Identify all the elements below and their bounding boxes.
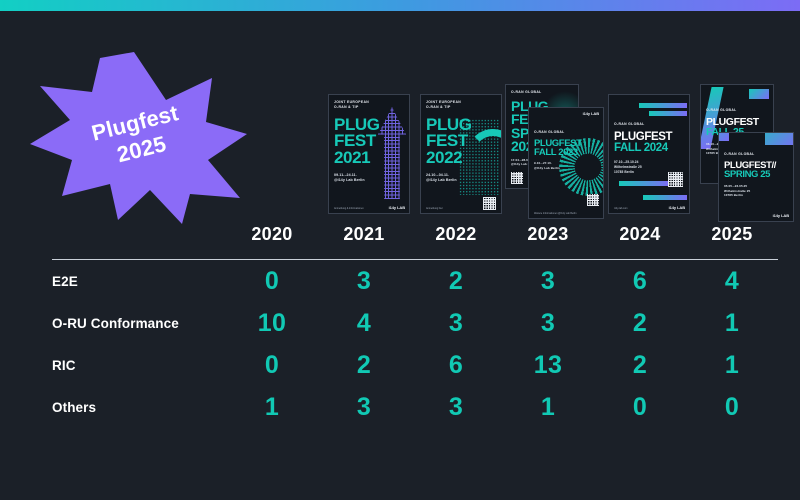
poster-footnote: Anmeldung hier <box>426 207 443 210</box>
year-header-2025: 2025 <box>686 224 778 259</box>
cell-oru-2023: 3 <box>502 302 594 344</box>
qr-code <box>668 172 683 187</box>
cell-others-2022: 3 <box>410 386 502 428</box>
qr-code <box>483 197 496 210</box>
year-header-2023: 2023 <box>502 224 594 259</box>
cell-oru-2022: 3 <box>410 302 502 344</box>
i14y-lab-logo: i14y LAB <box>773 213 789 218</box>
cell-others-2025: 0 <box>686 386 778 428</box>
cell-others-2021: 3 <box>318 386 410 428</box>
cell-others-2023: 1 <box>502 386 594 428</box>
poster-2022[interactable]: Joint European O-RAN & TIP PLUG FEST 202… <box>420 94 502 214</box>
poster-dates: 24.10.–04.11. @I14y Lab Berlin <box>426 173 496 184</box>
cell-e2e-2022: 2 <box>410 260 502 302</box>
poster-dates: 9.10.–27.10. @I14y Lab Berlin <box>534 161 598 170</box>
cell-e2e-2025: 4 <box>686 260 778 302</box>
table-row: RIC 0 2 6 13 2 1 <box>52 344 778 386</box>
cell-oru-2021: 4 <box>318 302 410 344</box>
cell-ric-2021: 2 <box>318 344 410 386</box>
poster-footnote: Weitere Informationen @I14y Lab Berlin <box>534 212 577 215</box>
qr-code <box>511 172 523 184</box>
table-row: E2E 0 3 2 3 6 4 <box>52 260 778 302</box>
year-header-2020: 2020 <box>226 224 318 259</box>
starburst-icon <box>26 48 251 226</box>
cell-ric-2025: 1 <box>686 344 778 386</box>
poster-subtitle: FALL 2024 <box>614 143 684 154</box>
cell-oru-2020: 10 <box>226 302 318 344</box>
poster-kicker: O-RAN GLOBAL <box>534 130 598 135</box>
cell-e2e-2023: 3 <box>502 260 594 302</box>
table-row: Others 1 3 3 1 0 0 <box>52 386 778 428</box>
cell-others-2020: 1 <box>226 386 318 428</box>
poster-footnote: Anmeldung & Informationen <box>334 207 364 210</box>
table-row: O-RU Conformance 10 4 3 3 2 1 <box>52 302 778 344</box>
poster-gallery: Joint European O-RAN & TIP PLUG FEST 202… <box>320 82 790 224</box>
poster-dates: 09.11.–24.11. @I14y Lab Berlin <box>334 173 404 184</box>
poster-kicker: O-RAN GLOBAL <box>724 152 788 157</box>
row-label-oru-conformance: O-RU Conformance <box>52 302 226 344</box>
year-header-2021: 2021 <box>318 224 410 259</box>
cell-oru-2025: 1 <box>686 302 778 344</box>
i14y-lab-logo: i14y LAB <box>389 205 405 210</box>
poster-footnote: i14y-lab.com <box>614 207 628 210</box>
year-header-2024: 2024 <box>594 224 686 259</box>
poster-subtitle: SPRING 25 <box>724 170 788 179</box>
poster-kicker: O-RAN GLOBAL <box>511 90 573 95</box>
poster-kicker: Joint European O-RAN & TIP <box>426 100 496 110</box>
top-gradient-bar <box>0 0 800 11</box>
poster-2024[interactable]: O-RAN GLOBAL PLUGFEST FALL 2024 07.10.–2… <box>608 94 690 214</box>
cell-e2e-2024: 6 <box>594 260 686 302</box>
poster-kicker: O-RAN GLOBAL <box>614 122 684 127</box>
qr-code <box>587 194 599 206</box>
cell-e2e-2021: 3 <box>318 260 410 302</box>
year-header-row: 2020 2021 2022 2023 2024 2025 <box>52 224 778 259</box>
plugfest-results-table: 2020 2021 2022 2023 2024 2025 E2E 0 3 2 … <box>52 224 778 428</box>
table-corner <box>52 224 226 259</box>
poster-2023-fall[interactable]: i14y LAB O-RAN GLOBAL PLUGFEST FALL 2023… <box>528 107 604 219</box>
row-label-e2e: E2E <box>52 260 226 302</box>
poster-kicker: O-RAN GLOBAL <box>706 108 768 113</box>
row-label-ric: RIC <box>52 344 226 386</box>
poster-title: PLUGFEST FALL 2023 <box>534 139 598 157</box>
poster-title: PLUG FEST 2021 <box>334 117 404 166</box>
i14y-lab-logo: i14y LAB <box>583 111 599 116</box>
cell-ric-2020: 0 <box>226 344 318 386</box>
year-header-2022: 2022 <box>410 224 502 259</box>
poster-dates: 05.05.–23.05.25 Wilhelmstraße 25 10785 B… <box>724 184 788 198</box>
poster-2021[interactable]: Joint European O-RAN & TIP PLUG FEST 202… <box>328 94 410 214</box>
cell-ric-2024: 2 <box>594 344 686 386</box>
row-label-others: Others <box>52 386 226 428</box>
cell-ric-2023: 13 <box>502 344 594 386</box>
cell-oru-2024: 2 <box>594 302 686 344</box>
i14y-lab-logo: i14y LAB <box>669 205 685 210</box>
poster-kicker: Joint European O-RAN & TIP <box>334 100 404 110</box>
plugfest-badge: Plugfest 2025 <box>26 48 251 226</box>
cell-ric-2022: 6 <box>410 344 502 386</box>
cell-others-2024: 0 <box>594 386 686 428</box>
poster-2025-spring[interactable]: O-RAN GLOBAL PLUGFEST// SPRING 25 05.05.… <box>718 132 794 222</box>
poster-title: PLUG FEST 2022 <box>426 117 496 166</box>
cell-e2e-2020: 0 <box>226 260 318 302</box>
